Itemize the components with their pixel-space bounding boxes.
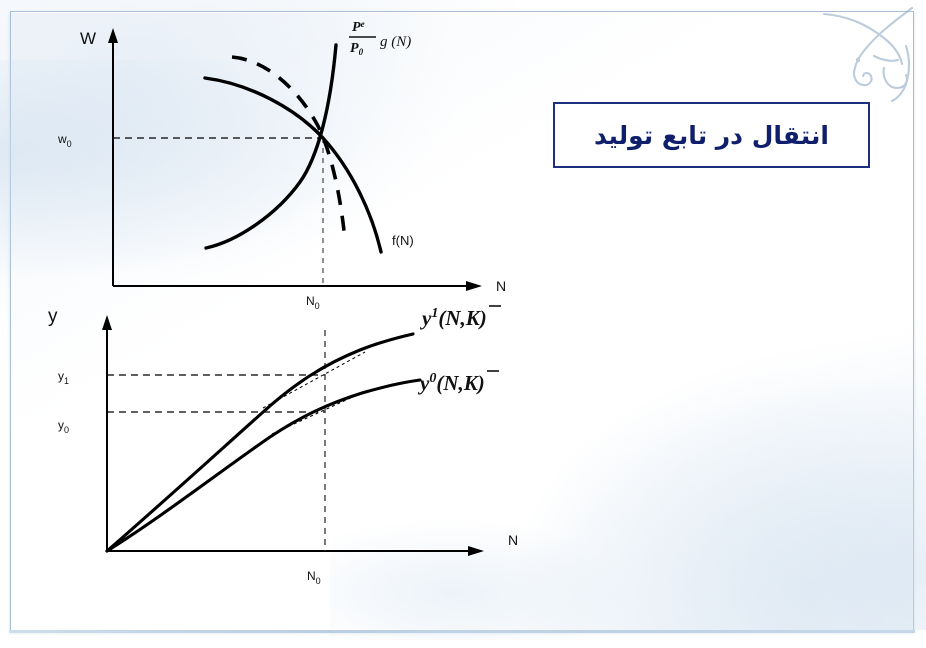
slide-canvas: انتقال در تابع تولید [0, 0, 926, 648]
labor-supply-curve [206, 45, 336, 248]
charts-container: W N w0 N0 f(N) Pe P0 g (N) [0, 0, 926, 648]
production-function-curve-y0 [107, 380, 420, 551]
svg-text:y0(N,K): y0(N,K) [417, 371, 485, 395]
n-axis-bottom [107, 546, 484, 556]
w0-tick-label: w0 [57, 132, 72, 149]
svg-text:g (N): g (N) [380, 34, 411, 50]
y0-tick-label: y0 [58, 418, 69, 435]
labor-demand-annotation: f(N) [392, 233, 414, 248]
n-axis-label-top: N [496, 278, 506, 294]
production-function-chart: y N y1 y0 N0 y1(N,K) y0(N,K [48, 306, 518, 586]
y1-tick-label: y1 [58, 369, 69, 386]
n0-tick-label-bottom: N0 [307, 569, 321, 586]
svg-text:y1(N,K): y1(N,K) [419, 306, 487, 330]
svg-text:Pe: Pe [352, 19, 365, 35]
y-axis-label: y [48, 306, 58, 327]
production-function-old-label: y0(N,K) [417, 371, 499, 395]
production-function-new-label: y1(N,K) [419, 306, 501, 330]
shifted-demand-curve-dashed [232, 57, 345, 240]
w-axis [108, 28, 118, 286]
labor-market-chart: W N w0 N0 f(N) Pe P0 g (N) [57, 19, 506, 311]
y-axis [102, 315, 112, 551]
n-axis-top [113, 281, 482, 291]
n0-tick-label-top: N0 [306, 294, 320, 311]
labor-demand-curve [205, 78, 381, 252]
w-axis-label: W [80, 29, 96, 48]
svg-text:P0: P0 [350, 41, 364, 57]
labor-supply-annotation: Pe P0 g (N) [349, 19, 411, 57]
n-axis-label-bottom: N [508, 532, 518, 548]
